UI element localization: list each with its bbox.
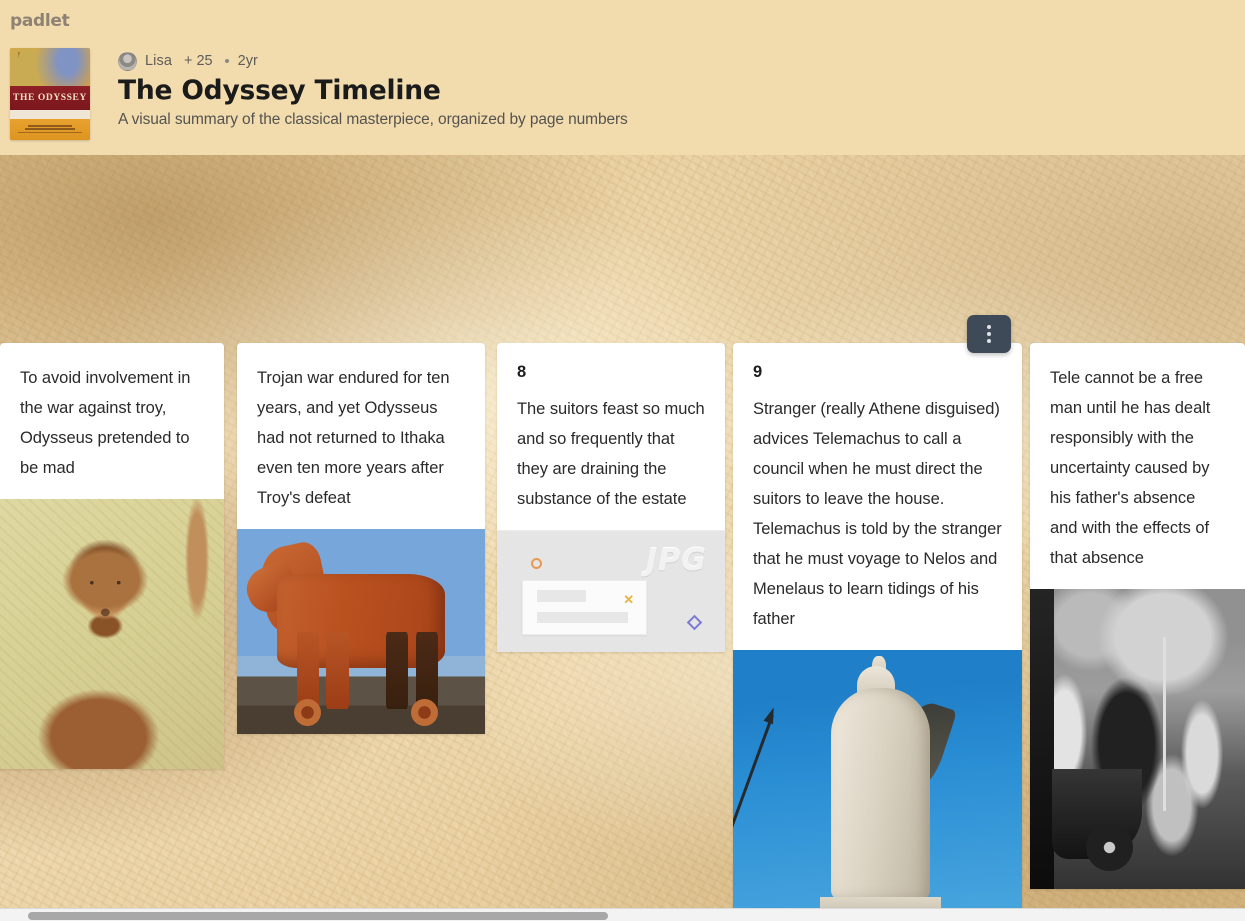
placeholder-form-shape: ✕ bbox=[522, 580, 647, 636]
spear-shaft bbox=[733, 715, 773, 859]
dot bbox=[987, 325, 991, 329]
engraving-pillar bbox=[1030, 589, 1054, 889]
placeholder-bar bbox=[537, 612, 628, 624]
thumbnail-credit-line-1 bbox=[28, 125, 71, 127]
post-text: Trojan war endured for ten years, and ye… bbox=[257, 363, 465, 513]
horse-leg bbox=[326, 632, 348, 710]
post-subject: 8 bbox=[517, 363, 705, 381]
post-body: Trojan war endured for ten years, and ye… bbox=[237, 343, 485, 529]
post-text: To avoid involvement in the war against … bbox=[20, 363, 204, 483]
page-title: The Odyssey Timeline bbox=[118, 75, 628, 106]
horse-leg bbox=[386, 632, 408, 710]
board-meta-row: Lisa + 25 2yr bbox=[118, 50, 628, 72]
post-card[interactable]: Tele cannot be a free man until he has d… bbox=[1030, 343, 1245, 889]
statue-figure bbox=[831, 688, 929, 899]
board-header: padlet THE ODYSSEY Lisa + bbox=[0, 0, 1245, 155]
thumbnail-title-text: THE ODYSSEY bbox=[13, 93, 87, 103]
post-image-athena[interactable] bbox=[733, 650, 1022, 921]
scrollbar-thumb[interactable] bbox=[28, 912, 608, 920]
post-options-menu-icon[interactable] bbox=[967, 315, 1011, 353]
post-body: To avoid involvement in the war against … bbox=[0, 343, 224, 499]
post-image-placeholder[interactable]: JPG ✕ bbox=[497, 530, 725, 652]
horse-leg bbox=[297, 632, 319, 710]
thumbnail-credit-line-3 bbox=[18, 132, 82, 134]
post-card[interactable]: 9 Stranger (really Athene disguised) adv… bbox=[733, 343, 1022, 921]
post-image-trojan-horse[interactable] bbox=[237, 529, 485, 734]
placeholder-bar bbox=[537, 590, 586, 602]
post-subject: 9 bbox=[753, 363, 1002, 381]
post-body: Tele cannot be a free man until he has d… bbox=[1030, 343, 1245, 589]
engraving-staff bbox=[1163, 637, 1166, 811]
thumbnail-credits bbox=[10, 119, 90, 140]
post-card[interactable]: Trojan war endured for ten years, and ye… bbox=[237, 343, 485, 734]
author-name[interactable]: Lisa bbox=[145, 53, 172, 69]
collaborator-count[interactable]: + 25 bbox=[184, 53, 213, 69]
post-text: Stranger (really Athene disguised) advic… bbox=[753, 394, 1002, 634]
avatar[interactable] bbox=[118, 52, 137, 71]
dot bbox=[987, 339, 991, 343]
horizontal-scrollbar[interactable] bbox=[0, 908, 1245, 921]
padlet-logo[interactable]: padlet bbox=[10, 11, 70, 31]
horse-wheel bbox=[294, 699, 321, 726]
diamond-icon bbox=[687, 615, 703, 631]
board-header-content: THE ODYSSEY Lisa + 25 2yr The Odyssey bbox=[10, 48, 628, 140]
post-body: 8 The suitors feast so much and so frequ… bbox=[497, 343, 725, 530]
post-text: The suitors feast so much and so frequen… bbox=[517, 394, 705, 514]
jpg-watermark-label: JPG bbox=[646, 543, 707, 578]
board-canvas[interactable]: To avoid involvement in the war against … bbox=[0, 155, 1245, 921]
board-header-text: Lisa + 25 2yr The Odyssey Timeline A vis… bbox=[118, 48, 628, 129]
timestamp: 2yr bbox=[238, 53, 258, 69]
post-body: 9 Stranger (really Athene disguised) adv… bbox=[733, 343, 1022, 650]
circle-icon bbox=[531, 558, 542, 569]
post-card[interactable]: 8 The suitors feast so much and so frequ… bbox=[497, 343, 725, 652]
separator-dot bbox=[225, 59, 229, 63]
thumbnail-title-band: THE ODYSSEY bbox=[10, 86, 90, 110]
post-image-fresco[interactable] bbox=[0, 499, 224, 769]
dot bbox=[987, 332, 991, 336]
post-image-engraving[interactable] bbox=[1030, 589, 1245, 889]
horse-wheel bbox=[411, 699, 438, 726]
thumbnail-strip bbox=[10, 110, 90, 119]
board-description: A visual summary of the classical master… bbox=[118, 111, 628, 129]
close-icon: ✕ bbox=[623, 593, 634, 606]
thumbnail-credit-line-2 bbox=[25, 128, 75, 130]
horse-leg bbox=[416, 632, 438, 710]
board-thumbnail[interactable]: THE ODYSSEY bbox=[10, 48, 90, 140]
post-card[interactable]: To avoid involvement in the war against … bbox=[0, 343, 224, 769]
post-text: Tele cannot be a free man until he has d… bbox=[1050, 363, 1225, 573]
padlet-board-app: padlet THE ODYSSEY Lisa + bbox=[0, 0, 1245, 921]
engraving-wheel bbox=[1086, 824, 1133, 871]
